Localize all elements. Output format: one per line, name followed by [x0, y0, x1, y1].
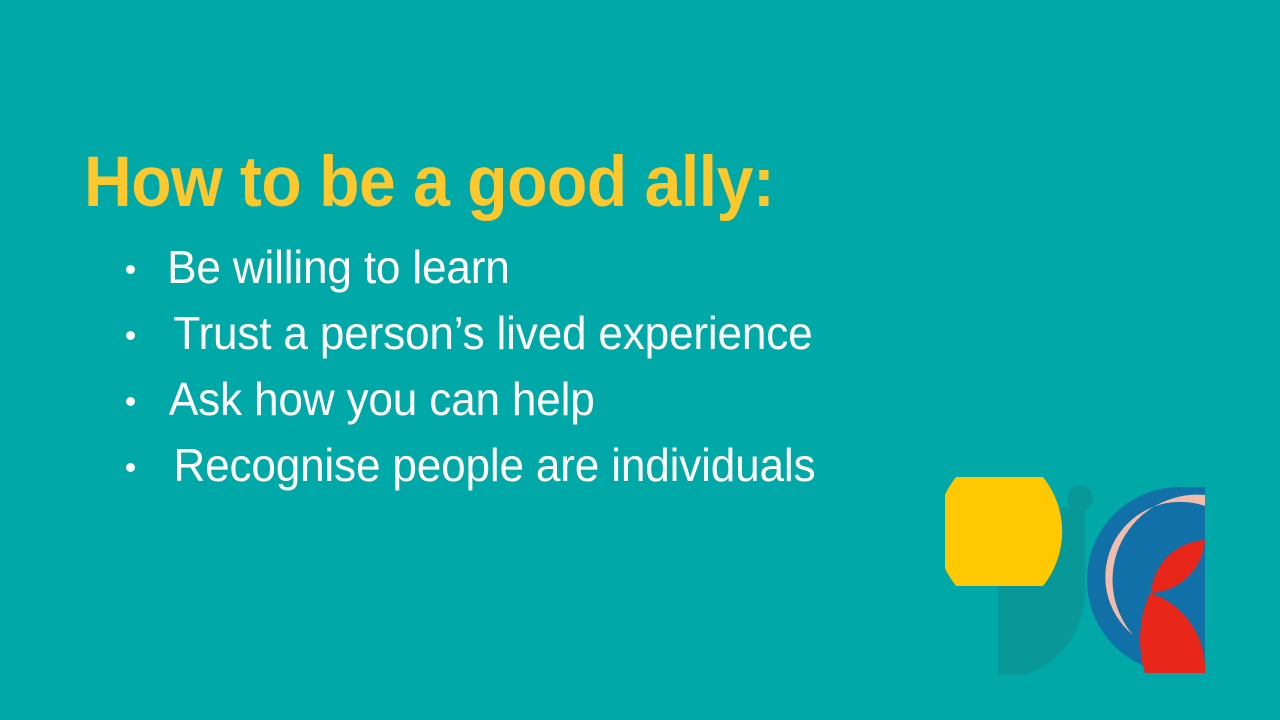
bullet-dot-icon [126, 397, 135, 406]
list-item: Be willing to learn [126, 241, 829, 307]
bullet-text: Recognise people are individuals [173, 439, 815, 491]
bullet-dot-icon [126, 265, 135, 274]
list-item: Ask how you can help [126, 373, 829, 439]
bullet-dot-icon [126, 463, 135, 472]
slide-canvas: How to be a good ally: Be willing to lea… [0, 0, 1280, 720]
page-title: How to be a good ally: [84, 145, 774, 221]
brand-logo-graphic [945, 470, 1207, 675]
list-item: Recognise people are individuals [126, 439, 829, 505]
bullet-text: Trust a person’s lived experience [173, 307, 812, 359]
bullet-dot-icon [126, 331, 135, 340]
yellow-leaf-body [945, 477, 1043, 586]
brand-logo [945, 470, 1207, 675]
bullet-text: Be willing to learn [167, 241, 509, 293]
teal-dot-icon [1067, 485, 1093, 511]
bullet-text: Ask how you can help [169, 373, 595, 425]
bullet-list: Be willing to learn Trust a person’s liv… [126, 241, 829, 505]
list-item: Trust a person’s lived experience [126, 307, 829, 373]
